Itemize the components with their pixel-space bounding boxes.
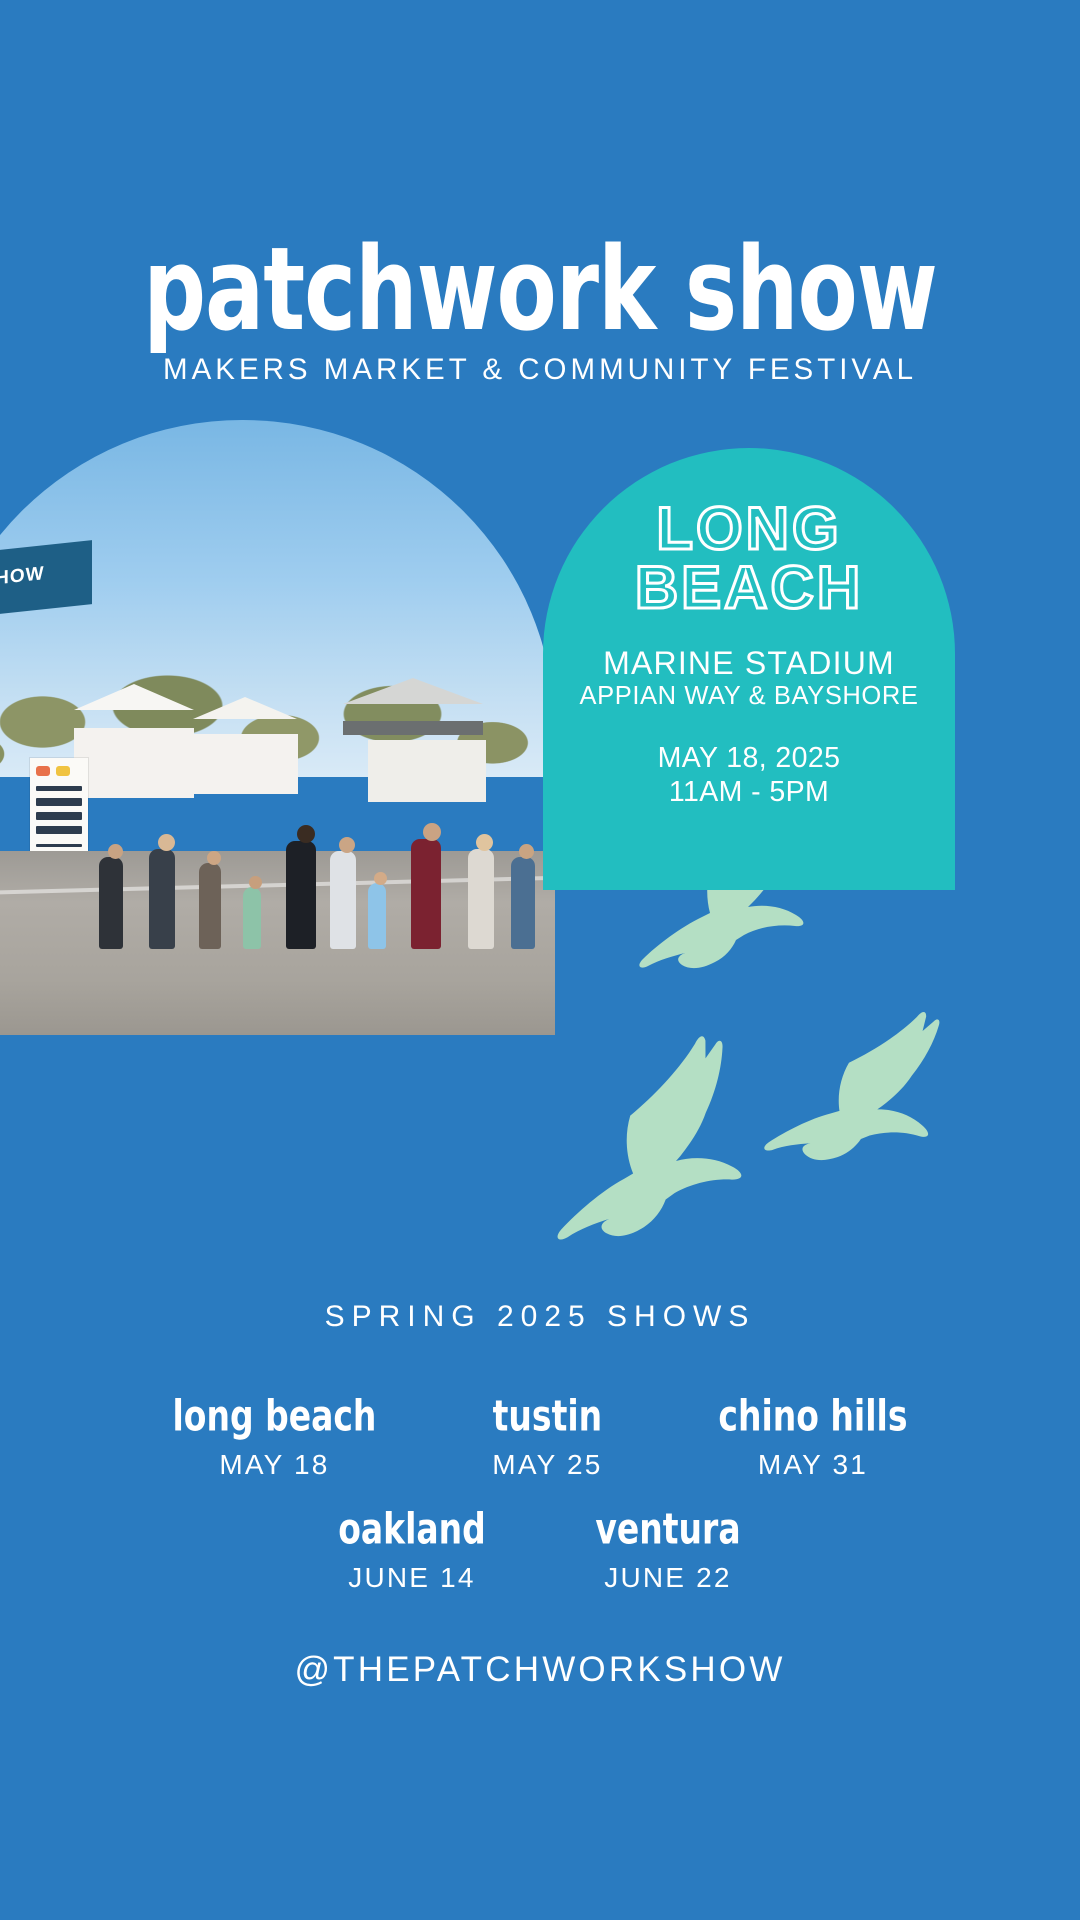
page-subtitle: MAKERS MARKET & COMMUNITY FESTIVAL (0, 353, 1080, 387)
photo-person-head (519, 844, 534, 859)
featured-city-line-1: LONG (543, 500, 955, 559)
show-item-tustin[interactable]: tustin MAY 25 (462, 1390, 632, 1481)
photo-person (199, 863, 221, 949)
featured-time: 11AM - 5PM (543, 775, 955, 809)
show-city: oakland (327, 1503, 497, 1554)
bird-icon (544, 1034, 745, 1240)
photo-canopy-text: ORK SHOW (0, 563, 45, 597)
show-city: long beach (172, 1390, 376, 1441)
featured-address: APPIAN WAY & BAYSHORE (543, 682, 955, 711)
photo-person-head (374, 872, 387, 885)
show-date: JUNE 14 (327, 1562, 497, 1594)
show-date: MAY 31 (718, 1449, 907, 1481)
featured-date: MAY 18, 2025 (543, 741, 955, 775)
photo-person-head (158, 834, 175, 851)
poster-header: patchwork show MAKERS MARKET & COMMUNITY… (0, 238, 1080, 387)
shows-row-1: long beach MAY 18 tustin MAY 25 chino hi… (0, 1390, 1080, 1481)
page-title: patchwork show (0, 238, 1080, 344)
social-handle[interactable]: @THEPATCHWORKSHOW (0, 1650, 1080, 1690)
photo-banner-swatch-1 (36, 766, 50, 776)
show-date: MAY 18 (172, 1449, 376, 1481)
market-photo: ORK SHOW RK SHOW (0, 420, 555, 1035)
photo-person-head (423, 823, 441, 841)
photo-person (411, 839, 441, 949)
featured-city: LONG BEACH (543, 500, 955, 618)
photo-person (468, 849, 494, 949)
show-city: ventura (583, 1503, 753, 1554)
photo-person (149, 849, 175, 949)
featured-datetime: MAY 18, 2025 11AM - 5PM (543, 741, 955, 809)
show-date: MAY 25 (462, 1449, 632, 1481)
show-item-oakland[interactable]: oakland JUNE 14 (327, 1503, 497, 1594)
photo-person-head (207, 851, 221, 865)
photo-person-head (108, 844, 123, 859)
show-item-chino-hills[interactable]: chino hills MAY 31 (718, 1390, 907, 1481)
shows-section: SPRING 2025 SHOWS long beach MAY 18 tust… (0, 1300, 1080, 1690)
featured-venue: MARINE STADIUM (543, 646, 955, 681)
photo-person (243, 887, 261, 949)
photo-person-head (249, 876, 262, 889)
photo-tent-roof-3 (343, 678, 483, 704)
photo-banner-line-1 (36, 786, 82, 791)
photo-content: ORK SHOW RK SHOW (0, 420, 555, 1035)
photo-person-head (339, 837, 355, 853)
photo-person-head (476, 834, 493, 851)
featured-city-line-2: BEACH (543, 559, 955, 618)
photo-person-head (297, 825, 315, 843)
photo-tent-3 (343, 721, 483, 735)
show-item-ventura[interactable]: ventura JUNE 22 (583, 1503, 753, 1594)
show-city: tustin (462, 1390, 632, 1441)
photo-person (99, 857, 123, 949)
photo-person (330, 851, 356, 949)
photo-banner-line-2 (36, 798, 82, 806)
photo-crowd (0, 814, 555, 949)
photo-tent-4 (368, 740, 486, 802)
shows-heading: SPRING 2025 SHOWS (0, 1300, 1080, 1334)
photo-tent-roof-2 (193, 697, 297, 719)
show-date: JUNE 22 (583, 1562, 753, 1594)
photo-tent-2 (193, 734, 298, 794)
photo-banner-swatch-2 (56, 766, 70, 776)
photo-person (368, 883, 386, 949)
poster-canvas: patchwork show MAKERS MARKET & COMMUNITY… (0, 0, 1080, 1920)
shows-row-2: oakland JUNE 14 ventura JUNE 22 (0, 1503, 1080, 1594)
photo-tent-1 (74, 728, 194, 798)
photo-tent-roof-1 (74, 684, 194, 710)
photo-person (286, 841, 316, 949)
featured-show-panel: LONG BEACH MARINE STADIUM APPIAN WAY & B… (543, 448, 955, 890)
bird-icon (764, 989, 949, 1178)
show-item-long-beach[interactable]: long beach MAY 18 (172, 1390, 376, 1481)
show-city: chino hills (718, 1390, 907, 1441)
photo-person (511, 857, 535, 949)
